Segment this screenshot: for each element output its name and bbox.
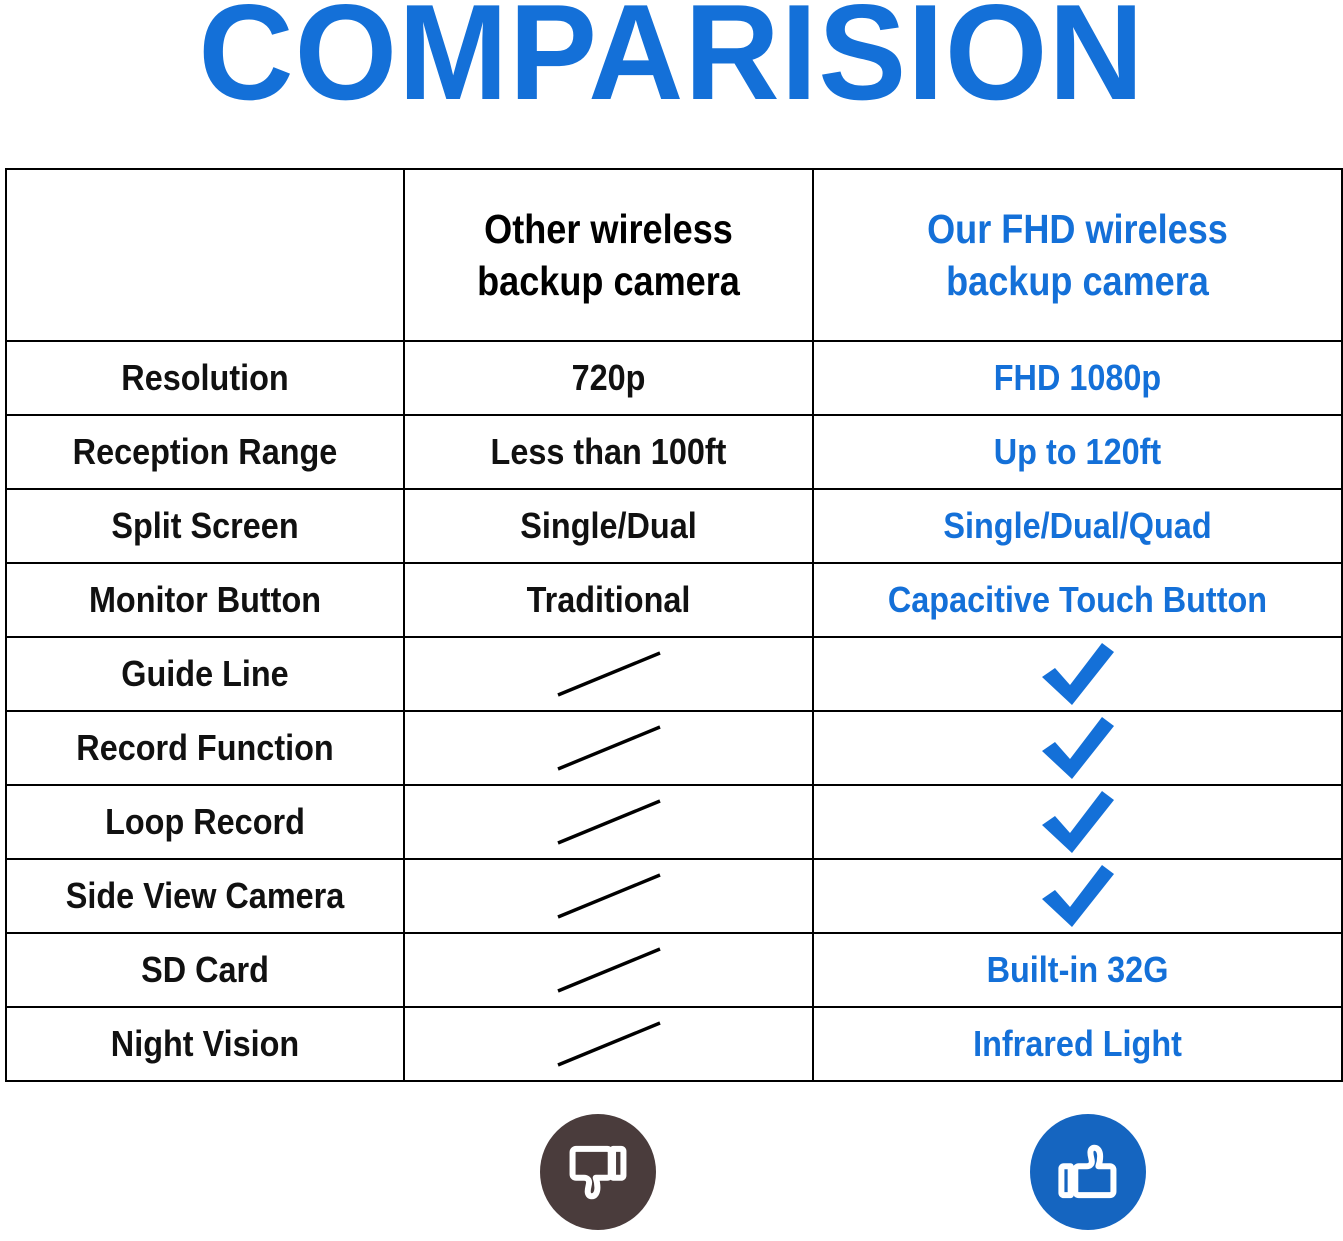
not-available-slash-icon xyxy=(405,712,812,784)
not-available-slash-icon xyxy=(405,860,812,932)
other-value-cell: Single/Dual xyxy=(404,489,813,563)
check-icon xyxy=(814,638,1341,710)
table-row: Reception RangeLess than 100ftUp to 120f… xyxy=(6,415,1342,489)
table-row: Resolution720pFHD 1080p xyxy=(6,341,1342,415)
table-row: Record Function xyxy=(6,711,1342,785)
ours-value-cell: Built-in 32G xyxy=(813,933,1342,1007)
feature-cell: Record Function xyxy=(6,711,404,785)
table-row: Monitor ButtonTraditionalCapacitive Touc… xyxy=(6,563,1342,637)
table-header-row: Other wireless backup camera Our FHD wir… xyxy=(6,169,1342,341)
other-value: Single/Dual xyxy=(425,505,791,547)
header-ours-line1: Our FHD wireless xyxy=(846,203,1310,255)
feature-label: SD Card xyxy=(27,949,383,991)
ours-value-cell: Capacitive Touch Button xyxy=(813,563,1342,637)
header-cell-ours: Our FHD wireless backup camera xyxy=(813,169,1342,341)
other-value-cell xyxy=(404,711,813,785)
ours-value: Single/Dual/Quad xyxy=(840,505,1314,547)
ours-value: Up to 120ft xyxy=(840,431,1314,473)
not-available-slash-icon xyxy=(405,638,812,710)
feature-cell: Reception Range xyxy=(6,415,404,489)
thumbs-up-icon xyxy=(1030,1114,1146,1230)
other-value-cell xyxy=(404,637,813,711)
header-other-line1: Other wireless xyxy=(429,203,787,255)
ours-value-cell xyxy=(813,859,1342,933)
check-icon xyxy=(814,786,1341,858)
feature-label: Resolution xyxy=(27,357,383,399)
table-row: Loop Record xyxy=(6,785,1342,859)
feature-label: Reception Range xyxy=(27,431,383,473)
ours-value-cell: FHD 1080p xyxy=(813,341,1342,415)
check-icon xyxy=(814,860,1341,932)
feature-cell: Split Screen xyxy=(6,489,404,563)
not-available-slash-icon xyxy=(405,1008,812,1080)
ours-value: Infrared Light xyxy=(840,1023,1314,1065)
comparison-table: Other wireless backup camera Our FHD wir… xyxy=(5,168,1343,1082)
verdict-other xyxy=(518,1104,678,1239)
feature-cell: Side View Camera xyxy=(6,859,404,933)
verdict-ours xyxy=(1008,1104,1168,1239)
other-value-cell: Traditional xyxy=(404,563,813,637)
not-available-slash-icon xyxy=(405,934,812,1006)
other-value-cell xyxy=(404,1007,813,1081)
feature-cell: Monitor Button xyxy=(6,563,404,637)
feature-label: Monitor Button xyxy=(27,579,383,621)
other-value: 720p xyxy=(425,357,791,399)
other-value-cell: Less than 100ft xyxy=(404,415,813,489)
table-row: Night VisionInfrared Light xyxy=(6,1007,1342,1081)
ours-value: Capacitive Touch Button xyxy=(840,579,1314,621)
table-row: Side View Camera xyxy=(6,859,1342,933)
ours-value-cell xyxy=(813,785,1342,859)
table-row: Guide Line xyxy=(6,637,1342,711)
page-title: COMPARISION xyxy=(20,0,1323,120)
feature-label: Loop Record xyxy=(27,801,383,843)
not-available-slash-icon xyxy=(405,786,812,858)
ours-value-cell: Infrared Light xyxy=(813,1007,1342,1081)
feature-label: Record Function xyxy=(27,727,383,769)
feature-cell: Night Vision xyxy=(6,1007,404,1081)
check-icon xyxy=(814,712,1341,784)
table-row: Split ScreenSingle/DualSingle/Dual/Quad xyxy=(6,489,1342,563)
feature-label: Split Screen xyxy=(27,505,383,547)
header-other-line2: backup camera xyxy=(429,255,787,307)
feature-label: Guide Line xyxy=(27,653,383,695)
feature-cell: Guide Line xyxy=(6,637,404,711)
other-value-cell: 720p xyxy=(404,341,813,415)
ours-value: Built-in 32G xyxy=(840,949,1314,991)
other-value-cell xyxy=(404,785,813,859)
other-value-cell xyxy=(404,933,813,1007)
other-value: Less than 100ft xyxy=(425,431,791,473)
other-value: Traditional xyxy=(425,579,791,621)
header-cell-other: Other wireless backup camera xyxy=(404,169,813,341)
verdict-row xyxy=(5,1104,1341,1239)
ours-value-cell xyxy=(813,637,1342,711)
ours-value: FHD 1080p xyxy=(840,357,1314,399)
table-row: SD CardBuilt-in 32G xyxy=(6,933,1342,1007)
ours-value-cell: Up to 120ft xyxy=(813,415,1342,489)
feature-label: Side View Camera xyxy=(27,875,383,917)
feature-cell: Loop Record xyxy=(6,785,404,859)
header-ours-line2: backup camera xyxy=(846,255,1310,307)
feature-label: Night Vision xyxy=(27,1023,383,1065)
feature-cell: SD Card xyxy=(6,933,404,1007)
feature-cell: Resolution xyxy=(6,341,404,415)
ours-value-cell xyxy=(813,711,1342,785)
thumbs-down-icon xyxy=(540,1114,656,1230)
header-cell-blank xyxy=(6,169,404,341)
other-value-cell xyxy=(404,859,813,933)
ours-value-cell: Single/Dual/Quad xyxy=(813,489,1342,563)
